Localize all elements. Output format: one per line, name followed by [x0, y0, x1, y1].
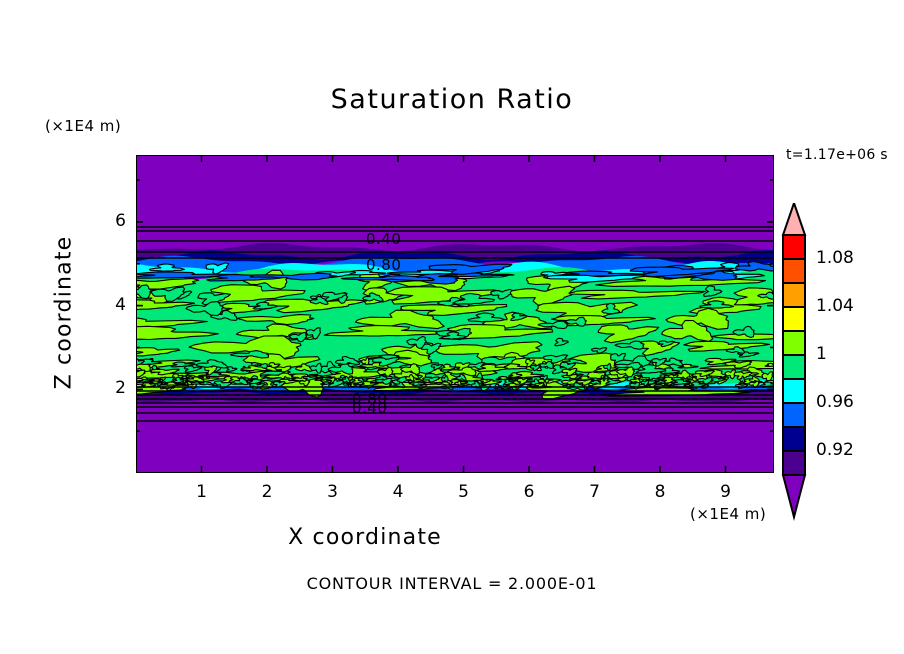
colorbar-tick-label: 1.04 [816, 296, 854, 316]
x-tick-label: 4 [378, 482, 418, 502]
z-axis-title: Z coordinate [52, 213, 77, 413]
z-axis-unit-label: (×1E4 m) [45, 117, 121, 135]
contour-line-label: 0.40 [366, 230, 401, 248]
contour-line-label: 0.40 [352, 399, 387, 417]
x-tick-label: 5 [444, 482, 484, 502]
timestamp-label: t=1.17e+06 s [786, 147, 888, 163]
x-tick-label: 6 [509, 482, 549, 502]
colorbar[interactable] [776, 203, 812, 521]
x-tick-label: 7 [575, 482, 615, 502]
contour-line-label: 0.80 [366, 256, 401, 274]
x-axis-title: X coordinate [0, 525, 730, 550]
x-tick-label: 9 [706, 482, 746, 502]
x-tick-label: 8 [640, 482, 680, 502]
z-tick-label: 4 [96, 295, 126, 315]
page-title: Saturation Ratio [0, 84, 904, 115]
colorbar-tick-label: 1.08 [816, 248, 854, 268]
contour-plot-panel [136, 155, 774, 473]
contour-interval-note: CONTOUR INTERVAL = 2.000E-01 [0, 574, 904, 593]
x-tick-label: 2 [247, 482, 287, 502]
z-tick-label: 6 [96, 211, 126, 231]
colorbar-tick-label: 0.92 [816, 440, 854, 460]
x-axis-unit-label: (×1E4 m) [690, 505, 766, 523]
z-tick-label: 2 [96, 378, 126, 398]
colorbar-tick-label: 0.96 [816, 392, 854, 412]
x-tick-label: 1 [182, 482, 222, 502]
contour-field [136, 155, 774, 473]
x-tick-label: 3 [313, 482, 353, 502]
colorbar-tick-label: 1 [816, 344, 827, 364]
